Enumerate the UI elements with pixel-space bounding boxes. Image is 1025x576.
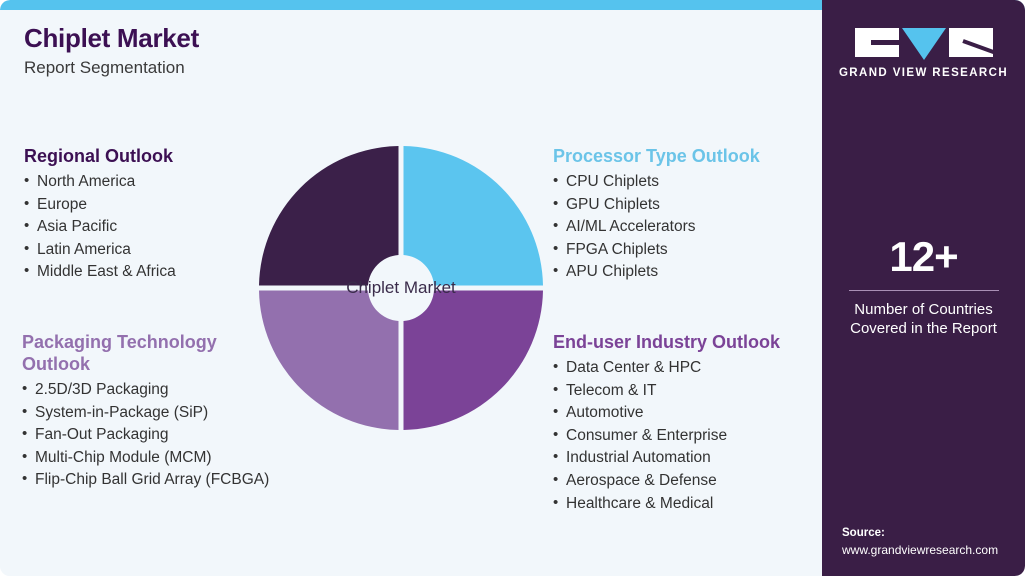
page-title: Chiplet Market bbox=[24, 24, 544, 54]
donut-slice-enduser-industry bbox=[404, 291, 544, 431]
stat-label-line2: Covered in the Report bbox=[822, 319, 1025, 338]
segment-enduser-industry-outlook: End-user Industry Outlook Data Center & … bbox=[553, 332, 780, 515]
list-item: Europe bbox=[24, 194, 176, 217]
segment-list-enduser: Data Center & HPC Telecom & IT Automotiv… bbox=[553, 357, 780, 515]
list-item: System-in-Package (SiP) bbox=[22, 402, 272, 425]
list-item: Asia Pacific bbox=[24, 216, 176, 239]
list-item: Latin America bbox=[24, 239, 176, 262]
list-item: 2.5D/3D Packaging bbox=[22, 379, 272, 402]
source-title: Source: bbox=[842, 526, 1022, 542]
source-url: www.grandviewresearch.com bbox=[842, 542, 1022, 558]
list-item: Industrial Automation bbox=[553, 447, 780, 470]
segment-heading-processor: Processor Type Outlook bbox=[553, 146, 760, 168]
infographic-card: Chiplet Market Report Segmentation Regio… bbox=[0, 0, 1025, 576]
list-item: Middle East & Africa bbox=[24, 261, 176, 284]
brand-logo: GRAND VIEW RESEARCH bbox=[822, 28, 1025, 79]
donut-chart: Chiplet Market bbox=[257, 144, 545, 432]
header: Chiplet Market Report Segmentation bbox=[24, 24, 544, 78]
donut-chart-svg bbox=[257, 144, 545, 432]
list-item: GPU Chiplets bbox=[553, 194, 760, 217]
donut-slice-processor-type bbox=[404, 146, 544, 286]
list-item: Automotive bbox=[553, 402, 780, 425]
list-item: Fan-Out Packaging bbox=[22, 424, 272, 447]
segment-regional-outlook: Regional Outlook North America Europe As… bbox=[24, 146, 176, 284]
logo-v-icon bbox=[902, 28, 946, 60]
source-block: Source: www.grandviewresearch.com bbox=[842, 526, 1022, 558]
list-item: Multi-Chip Module (MCM) bbox=[22, 447, 272, 470]
list-item: Telecom & IT bbox=[553, 380, 780, 403]
stat-countries: 12+ Number of Countries Covered in the R… bbox=[822, 236, 1025, 338]
side-panel: GRAND VIEW RESEARCH 12+ Number of Countr… bbox=[822, 0, 1025, 576]
list-item: Aerospace & Defense bbox=[553, 470, 780, 493]
list-item: CPU Chiplets bbox=[553, 171, 760, 194]
donut-slice-regional bbox=[259, 146, 399, 286]
stat-divider bbox=[849, 290, 999, 291]
list-item: APU Chiplets bbox=[553, 261, 760, 284]
segment-heading-regional: Regional Outlook bbox=[24, 146, 176, 168]
logo-r-icon bbox=[949, 28, 993, 57]
segment-list-processor: CPU Chiplets GPU Chiplets AI/ML Accelera… bbox=[553, 171, 760, 284]
segment-heading-enduser: End-user Industry Outlook bbox=[553, 332, 780, 354]
segment-packaging-technology-outlook: Packaging Technology Outlook 2.5D/3D Pac… bbox=[22, 332, 272, 492]
list-item: Data Center & HPC bbox=[553, 357, 780, 380]
donut-slice-packaging-technology bbox=[259, 291, 399, 431]
list-item: North America bbox=[24, 171, 176, 194]
segment-processor-type-outlook: Processor Type Outlook CPU Chiplets GPU … bbox=[553, 146, 760, 284]
list-item: Flip-Chip Ball Grid Array (FCBGA) bbox=[22, 469, 272, 492]
segment-list-packaging: 2.5D/3D Packaging System-in-Package (SiP… bbox=[22, 379, 272, 492]
list-item: FPGA Chiplets bbox=[553, 239, 760, 262]
stat-label-line1: Number of Countries bbox=[822, 300, 1025, 319]
list-item: Consumer & Enterprise bbox=[553, 425, 780, 448]
list-item: Healthcare & Medical bbox=[553, 493, 780, 516]
stat-value: 12+ bbox=[822, 236, 1025, 278]
segment-heading-packaging: Packaging Technology Outlook bbox=[22, 332, 272, 376]
list-item: AI/ML Accelerators bbox=[553, 216, 760, 239]
logo-marks bbox=[822, 28, 1025, 60]
page-subtitle: Report Segmentation bbox=[24, 58, 544, 78]
brand-name: GRAND VIEW RESEARCH bbox=[822, 67, 1025, 79]
logo-g-icon bbox=[855, 28, 899, 57]
segment-list-regional: North America Europe Asia Pacific Latin … bbox=[24, 171, 176, 284]
